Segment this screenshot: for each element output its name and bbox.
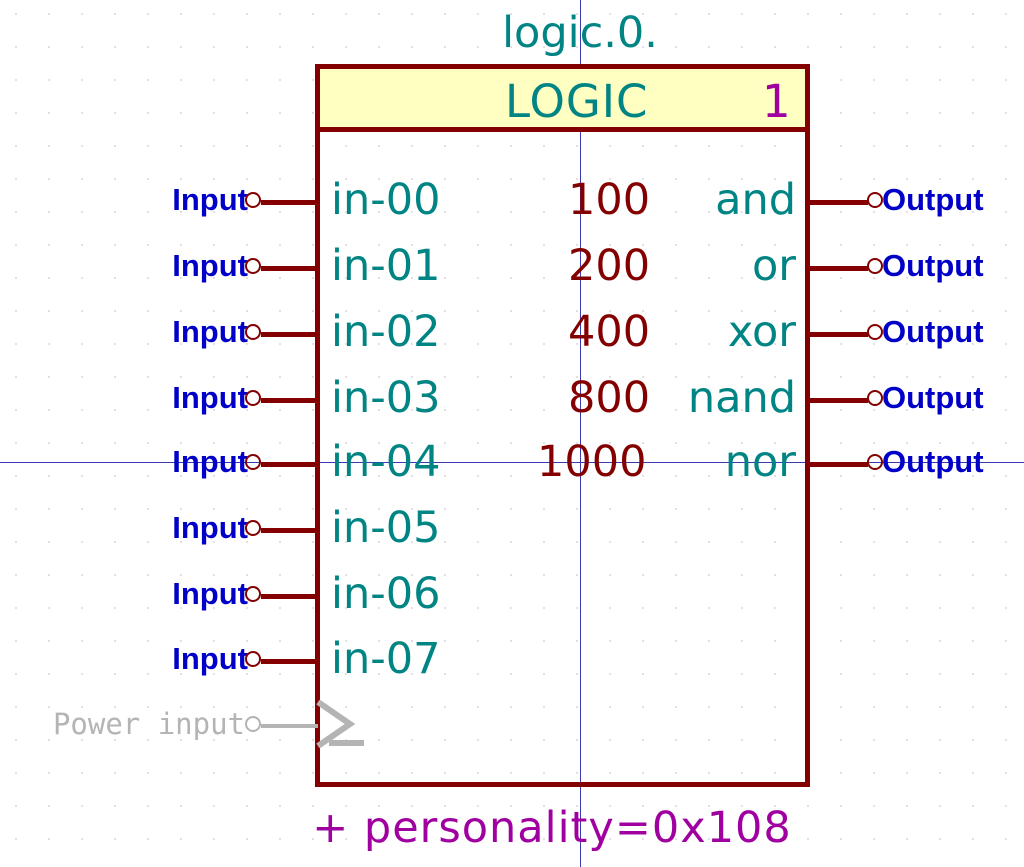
pin-etype-in-04: Input — [172, 444, 248, 480]
pin-connector-in-02[interactable] — [245, 324, 261, 340]
symbol-field-personality[interactable]: + personality=0x108 — [312, 803, 792, 853]
pin-connector-or[interactable] — [867, 258, 883, 274]
pin-etype-in-03: Input — [172, 380, 248, 416]
pin-name-in-04[interactable]: in-04 — [331, 437, 440, 487]
pin-number-nand[interactable]: 800 — [568, 373, 650, 423]
pin-line-xor[interactable] — [808, 332, 868, 337]
pin-line-in-01[interactable] — [261, 266, 318, 271]
pin-name-xor[interactable]: xor — [728, 307, 796, 357]
pin-line-power-input[interactable] — [261, 724, 318, 728]
pin-name-in-02[interactable]: in-02 — [331, 307, 440, 357]
pin-line-in-02[interactable] — [261, 332, 318, 337]
pin-name-in-05[interactable]: in-05 — [331, 503, 440, 553]
pin-connector-in-07[interactable] — [245, 651, 261, 667]
pin-connector-in-06[interactable] — [245, 586, 261, 602]
pin-line-nand[interactable] — [808, 398, 868, 403]
pin-name-or[interactable]: or — [752, 241, 796, 291]
pin-name-in-01[interactable]: in-01 — [331, 241, 440, 291]
pin-etype-in-00: Input — [172, 182, 248, 218]
pin-line-or[interactable] — [808, 266, 868, 271]
symbol-value-text[interactable]: logic.0. — [502, 8, 658, 58]
pin-connector-xor[interactable] — [867, 324, 883, 340]
pin-name-in-06[interactable]: in-06 — [331, 569, 440, 619]
schematic-canvas[interactable]: logic.0. LOGIC 1 Input in-00 Input in-01… — [0, 0, 1024, 867]
pin-number-or[interactable]: 200 — [568, 241, 650, 291]
power-pin-underscore — [329, 740, 364, 746]
pin-name-in-07[interactable]: in-07 — [331, 634, 440, 684]
symbol-reference[interactable]: 1 — [762, 75, 791, 128]
pin-line-in-00[interactable] — [261, 200, 318, 205]
pin-etype-or: Output — [882, 248, 984, 284]
pin-connector-in-04[interactable] — [245, 454, 261, 470]
pin-connector-in-05[interactable] — [245, 520, 261, 536]
pin-line-in-04[interactable] — [261, 462, 318, 467]
pin-etype-in-05: Input — [172, 510, 248, 546]
pin-etype-and: Output — [882, 182, 984, 218]
pin-name-nand[interactable]: nand — [688, 373, 796, 423]
pin-connector-nor[interactable] — [867, 454, 883, 470]
pin-connector-in-00[interactable] — [245, 192, 261, 208]
pin-connector-and[interactable] — [867, 192, 883, 208]
pin-line-nor[interactable] — [808, 462, 868, 467]
pin-line-in-05[interactable] — [261, 528, 318, 533]
pin-line-in-07[interactable] — [261, 659, 318, 664]
pin-connector-power-input[interactable] — [245, 716, 261, 732]
pin-connector-in-03[interactable] — [245, 390, 261, 406]
pin-number-xor[interactable]: 400 — [568, 307, 650, 357]
pin-connector-in-01[interactable] — [245, 258, 261, 274]
pin-etype-in-02: Input — [172, 314, 248, 350]
symbol-title[interactable]: LOGIC — [505, 75, 648, 128]
pin-etype-in-01: Input — [172, 248, 248, 284]
pin-name-in-03[interactable]: in-03 — [331, 373, 440, 423]
pin-connector-nand[interactable] — [867, 390, 883, 406]
pin-name-in-00[interactable]: in-00 — [331, 175, 440, 225]
pin-name-and[interactable]: and — [715, 175, 796, 225]
pin-etype-power-input: Power input — [53, 707, 245, 741]
pin-number-and[interactable]: 100 — [568, 175, 650, 225]
pin-etype-nor: Output — [882, 444, 984, 480]
pin-name-nor[interactable]: nor — [725, 437, 796, 487]
pin-line-and[interactable] — [808, 200, 868, 205]
pin-etype-in-07: Input — [172, 641, 248, 677]
pin-line-in-06[interactable] — [261, 594, 318, 599]
pin-etype-nand: Output — [882, 380, 984, 416]
pin-etype-in-06: Input — [172, 576, 248, 612]
pin-line-in-03[interactable] — [261, 398, 318, 403]
pin-etype-xor: Output — [882, 314, 984, 350]
pin-number-nor[interactable]: 1000 — [537, 437, 646, 487]
